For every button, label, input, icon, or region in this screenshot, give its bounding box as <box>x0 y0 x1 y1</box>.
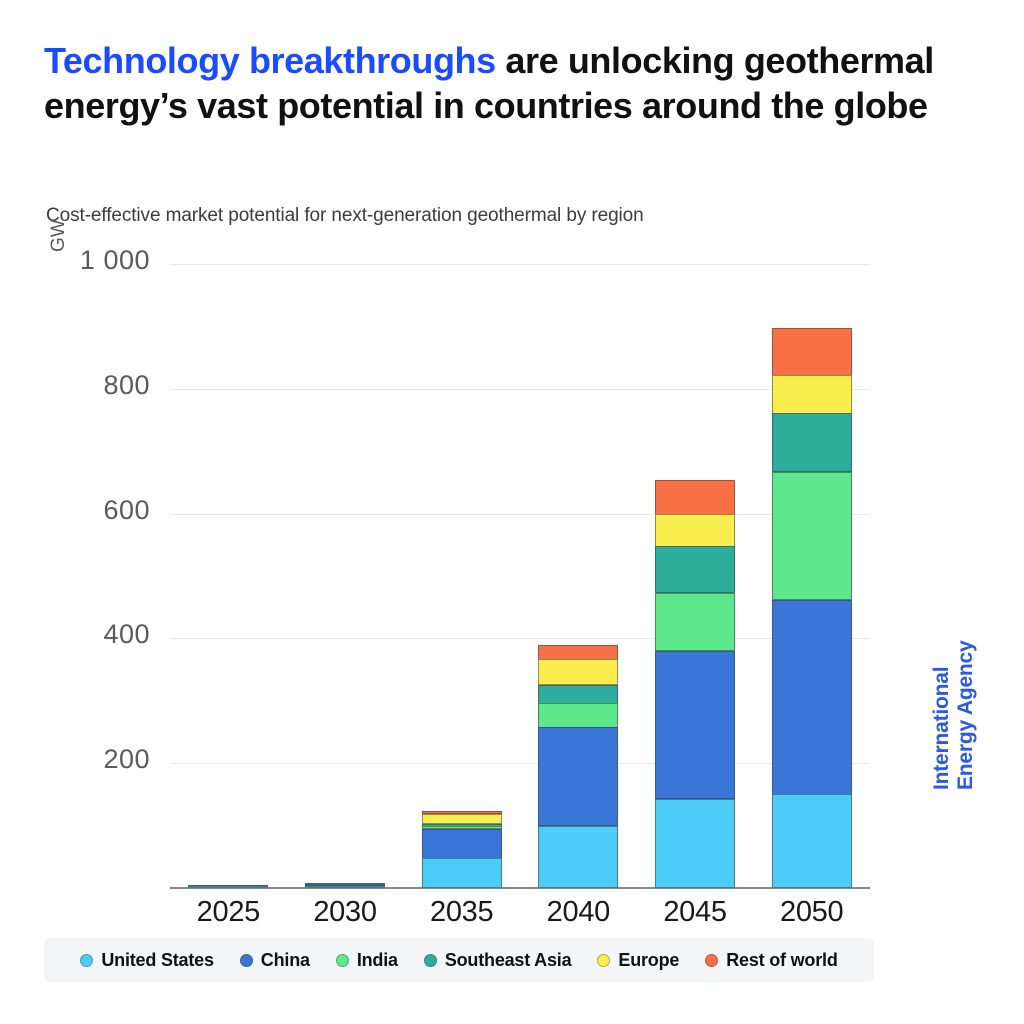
chart-subtitle: Cost-effective market potential for next… <box>46 205 644 227</box>
bar-segment[interactable] <box>422 829 502 859</box>
y-axis-tick-label: 800 <box>40 370 150 401</box>
legend-item[interactable]: United States <box>80 950 213 971</box>
x-axis-tick-label: 2050 <box>757 896 867 929</box>
legend-item-label: Southeast Asia <box>445 950 572 971</box>
chart-plot-area: 1 000800600400200 2025203020352040204520… <box>170 264 870 888</box>
chart-legend[interactable]: United StatesChinaIndiaSoutheast AsiaEur… <box>44 938 874 982</box>
x-axis-tick-label: 2025 <box>173 896 283 929</box>
y-axis-tick-label: 1 000 <box>40 245 150 276</box>
legend-item[interactable]: India <box>336 950 398 971</box>
bar-segment[interactable] <box>188 886 268 888</box>
legend-item-label: United States <box>101 950 213 971</box>
legend-item[interactable]: Europe <box>597 950 679 971</box>
bar-segment[interactable] <box>772 375 852 414</box>
bar-segment[interactable] <box>538 727 618 826</box>
x-axis-tick-label: 2030 <box>290 896 400 929</box>
bar-segment[interactable] <box>538 685 618 704</box>
page-title: Technology breakthroughs are unlocking g… <box>44 38 994 128</box>
bar-segment[interactable] <box>305 886 385 888</box>
x-axis-tick-label: 2040 <box>523 896 633 929</box>
headline-text: Technology breakthroughs are unlocking g… <box>44 38 994 128</box>
legend-item-label: Rest of world <box>726 950 837 971</box>
brand-line-1: International <box>930 640 954 790</box>
bar-segment[interactable] <box>422 814 502 825</box>
bar-segment[interactable] <box>655 514 735 546</box>
bars-layer <box>170 264 870 888</box>
y-axis-tick-label: 200 <box>40 744 150 775</box>
bar-segment[interactable] <box>538 659 618 685</box>
bar-stack[interactable] <box>422 812 502 888</box>
bar-stack[interactable] <box>772 329 852 888</box>
bar-segment[interactable] <box>772 600 852 795</box>
bar-stack[interactable] <box>655 480 735 888</box>
x-axis-tick-label: 2035 <box>407 896 517 929</box>
bar-segment[interactable] <box>538 703 618 727</box>
bar-segment[interactable] <box>772 413 852 472</box>
legend-color-dot-icon <box>705 954 718 967</box>
bar-segment[interactable] <box>655 799 735 888</box>
y-axis-tick-label: 400 <box>40 619 150 650</box>
legend-color-dot-icon <box>80 954 93 967</box>
brand-line-2: Energy Agency <box>954 640 978 790</box>
bar-stack[interactable] <box>305 884 385 888</box>
legend-item-label: Europe <box>618 950 679 971</box>
legend-color-dot-icon <box>424 954 437 967</box>
bar-segment[interactable] <box>655 480 735 515</box>
headline-accent: Technology breakthroughs <box>44 40 496 81</box>
bar-stack[interactable] <box>188 885 268 888</box>
bar-segment[interactable] <box>655 651 735 800</box>
legend-color-dot-icon <box>240 954 253 967</box>
legend-item[interactable]: China <box>240 950 310 971</box>
x-axis-tick-label: 2045 <box>640 896 750 929</box>
chart-page: Technology breakthroughs are unlocking g… <box>0 0 1024 1024</box>
bar-segment[interactable] <box>538 826 618 888</box>
legend-item[interactable]: Rest of world <box>705 950 837 971</box>
bar-segment[interactable] <box>538 645 618 660</box>
legend-item-label: India <box>357 950 398 971</box>
bar-segment[interactable] <box>772 794 852 888</box>
bar-segment[interactable] <box>772 328 852 375</box>
y-axis-tick-label: 600 <box>40 495 150 526</box>
bar-segment[interactable] <box>772 472 852 601</box>
legend-color-dot-icon <box>597 954 610 967</box>
bar-segment[interactable] <box>655 593 735 652</box>
bar-segment[interactable] <box>655 546 735 593</box>
iea-brand-label: International Energy Agency <box>930 640 977 790</box>
bar-segment[interactable] <box>422 858 502 888</box>
legend-item-label: China <box>261 950 310 971</box>
bar-stack[interactable] <box>538 645 618 888</box>
legend-item[interactable]: Southeast Asia <box>424 950 572 971</box>
legend-color-dot-icon <box>336 954 349 967</box>
